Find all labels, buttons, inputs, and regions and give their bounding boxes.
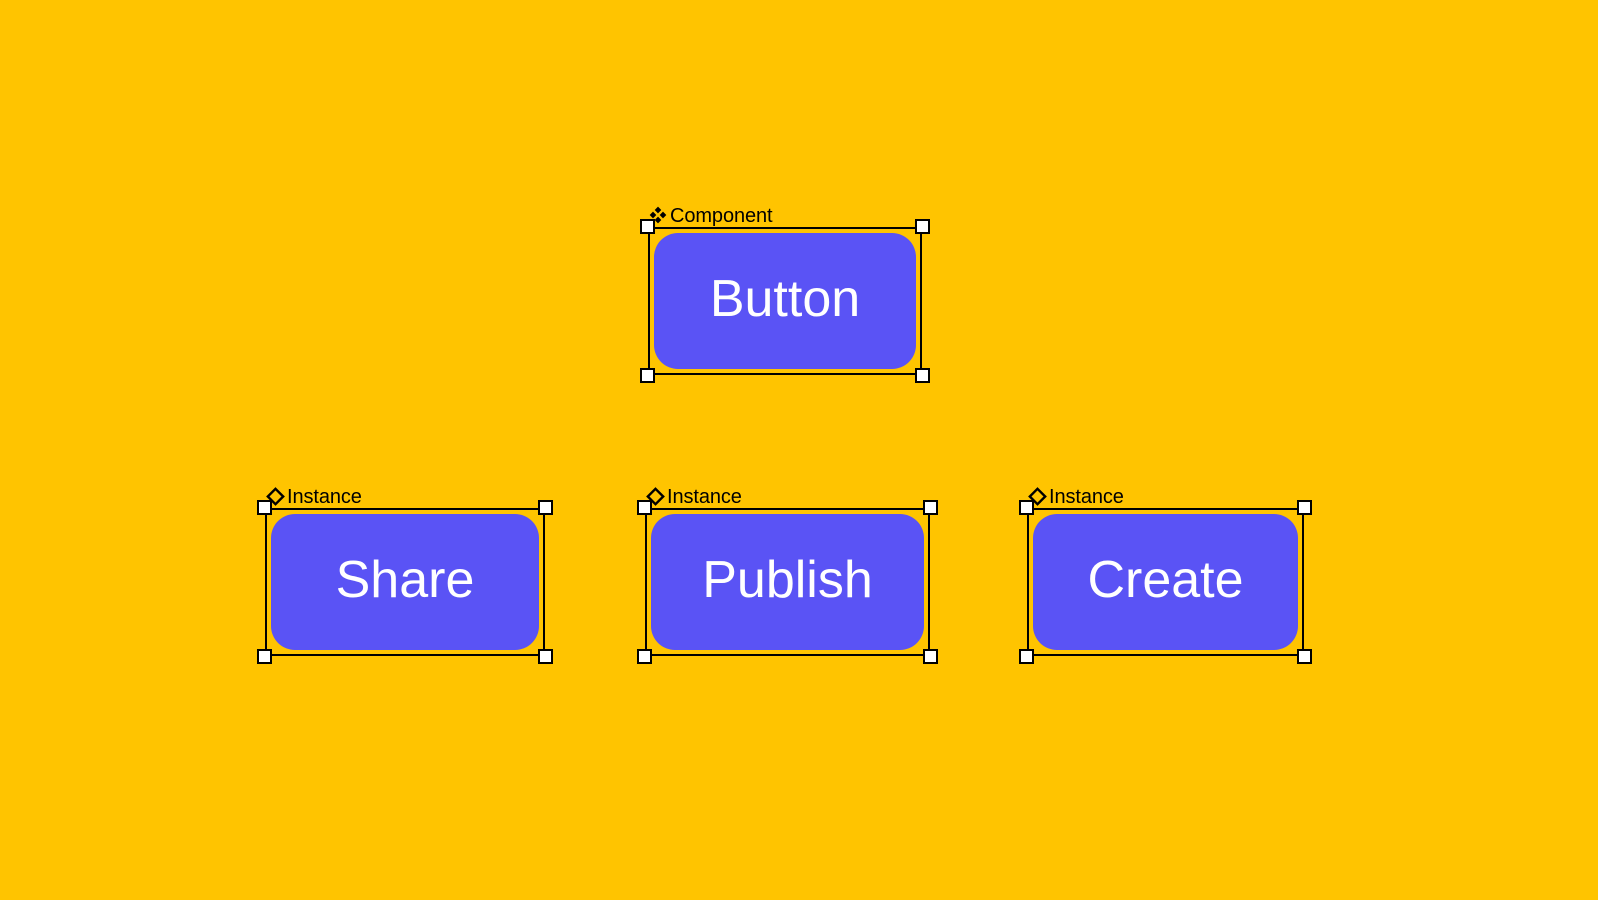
node-badge-component-button[interactable]: Component: [648, 205, 773, 225]
resize-handle-br[interactable]: [1297, 649, 1312, 664]
node-badge-label: Instance: [287, 487, 362, 507]
ui-button-label: Button: [710, 273, 860, 325]
node-badge-instance-share[interactable]: Instance: [265, 486, 362, 506]
design-canvas[interactable]: ComponentButtonInstanceShareInstancePubl…: [0, 0, 1598, 900]
resize-handle-tr[interactable]: [538, 500, 553, 515]
resize-handle-tr[interactable]: [923, 500, 938, 515]
resize-handle-bl[interactable]: [1019, 649, 1034, 664]
ui-button-instance-create[interactable]: Create: [1033, 514, 1298, 650]
resize-handle-tl[interactable]: [1019, 500, 1034, 515]
node-badge-instance-publish[interactable]: Instance: [645, 486, 742, 506]
resize-handle-tl[interactable]: [640, 219, 655, 234]
resize-handle-br[interactable]: [915, 368, 930, 383]
resize-handle-bl[interactable]: [257, 649, 272, 664]
ui-button-label: Create: [1087, 554, 1243, 606]
resize-handle-bl[interactable]: [640, 368, 655, 383]
node-badge-label: Component: [670, 206, 773, 226]
ui-button-label: Share: [336, 554, 475, 606]
node-badge-label: Instance: [1049, 487, 1124, 507]
ui-button-component-button[interactable]: Button: [654, 233, 916, 369]
resize-handle-tl[interactable]: [257, 500, 272, 515]
node-badge-label: Instance: [667, 487, 742, 507]
ui-button-instance-share[interactable]: Share: [271, 514, 539, 650]
resize-handle-tl[interactable]: [637, 500, 652, 515]
resize-handle-bl[interactable]: [637, 649, 652, 664]
resize-handle-tr[interactable]: [915, 219, 930, 234]
resize-handle-br[interactable]: [538, 649, 553, 664]
ui-button-instance-publish[interactable]: Publish: [651, 514, 924, 650]
resize-handle-br[interactable]: [923, 649, 938, 664]
node-badge-instance-create[interactable]: Instance: [1027, 486, 1124, 506]
resize-handle-tr[interactable]: [1297, 500, 1312, 515]
ui-button-label: Publish: [702, 554, 873, 606]
